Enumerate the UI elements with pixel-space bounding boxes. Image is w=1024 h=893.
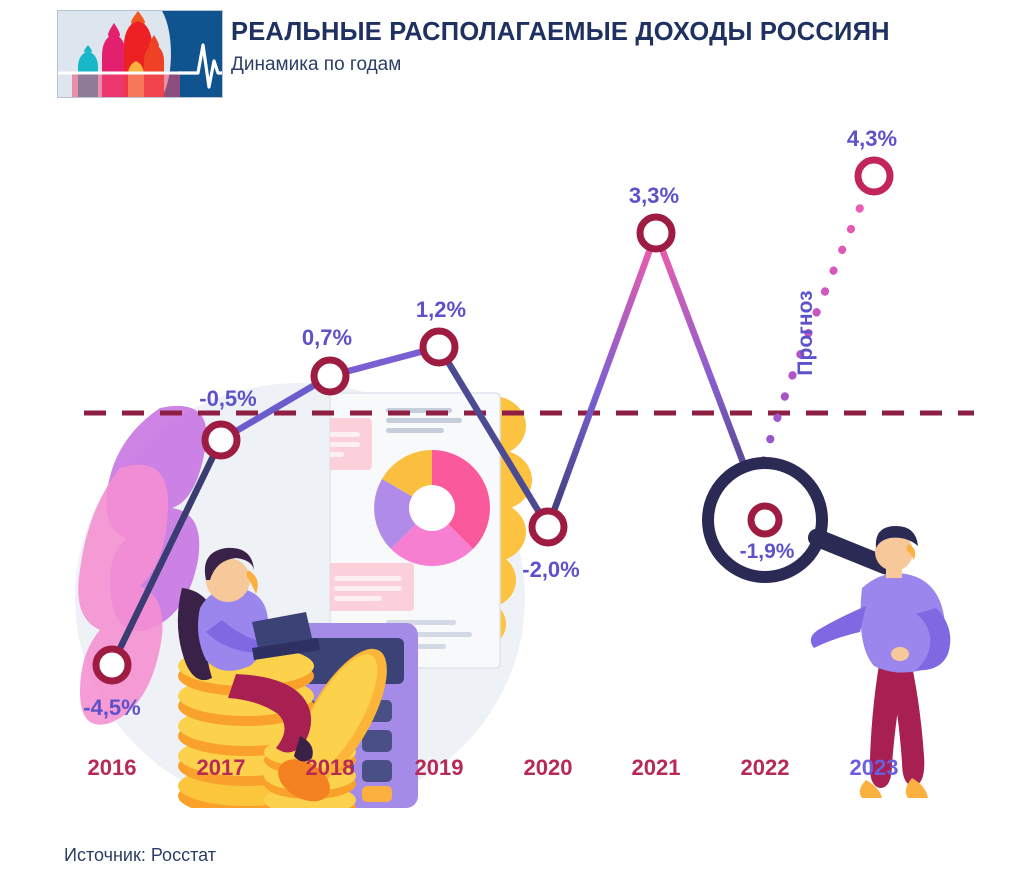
- year-label-2022[interactable]: 2022: [741, 755, 790, 781]
- year-label-2019[interactable]: 2019: [415, 755, 464, 781]
- value-label-2016: -4,5%: [83, 695, 140, 721]
- st-basils-cathedral-pulse-logo: [57, 10, 223, 98]
- marker-2021[interactable]: [640, 217, 672, 249]
- year-label-2023[interactable]: 2023: [850, 755, 899, 781]
- year-axis: 2016 2017 2018 2019 2020 2021 2022 2023: [0, 755, 1024, 795]
- marker-2016[interactable]: [96, 649, 128, 681]
- value-label-2021: 3,3%: [629, 183, 679, 209]
- value-label-2018: 0,7%: [302, 325, 352, 351]
- page-subtitle: Динамика по годам: [231, 54, 401, 76]
- value-label-2019: 1,2%: [416, 297, 466, 323]
- value-label-2020: -2,0%: [522, 557, 579, 583]
- marker-2018[interactable]: [314, 360, 346, 392]
- chart-area: -4,5% -0,5% 0,7% 1,2% -2,0% 3,3% -1,9% 4…: [0, 108, 1024, 808]
- chart-svg: [0, 108, 1024, 808]
- marker-2019[interactable]: [423, 331, 455, 363]
- year-label-2021[interactable]: 2021: [632, 755, 681, 781]
- value-label-2023: 4,3%: [847, 126, 897, 152]
- marker-2017[interactable]: [205, 424, 237, 456]
- source-note: Источник: Росстат: [64, 845, 216, 866]
- header: РЕАЛЬНЫЕ РАСПОЛАГАЕМЫЕ ДОХОДЫ РОССИЯН Ди…: [0, 0, 1024, 108]
- year-label-2018[interactable]: 2018: [306, 755, 355, 781]
- page-title: РЕАЛЬНЫЕ РАСПОЛАГАЕМЫЕ ДОХОДЫ РОССИЯН: [231, 18, 890, 47]
- logo-artwork: [58, 11, 222, 97]
- marker-2022[interactable]: [751, 506, 779, 534]
- value-label-2017: -0,5%: [199, 386, 256, 412]
- year-label-2017[interactable]: 2017: [197, 755, 246, 781]
- year-label-2016[interactable]: 2016: [88, 755, 137, 781]
- magnifier-illustration: [708, 463, 897, 577]
- marker-2020[interactable]: [532, 511, 564, 543]
- year-label-2020[interactable]: 2020: [524, 755, 573, 781]
- marker-2023-forecast[interactable]: [858, 160, 890, 192]
- forecast-annotation: Прогноз: [794, 290, 818, 375]
- value-label-2022: -1,9%: [740, 540, 795, 564]
